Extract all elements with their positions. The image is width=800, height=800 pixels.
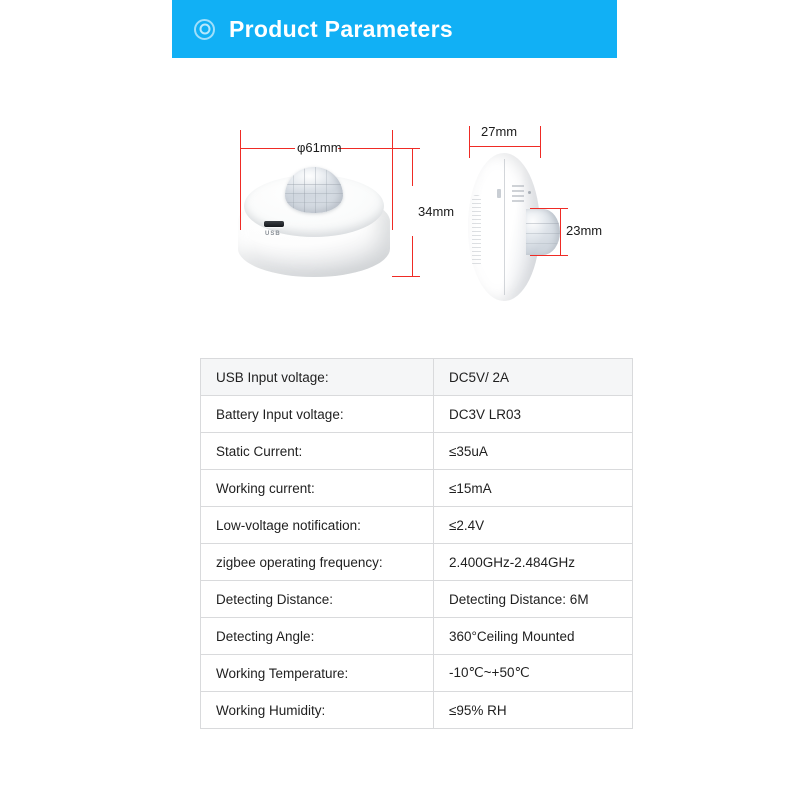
param-name: zigbee operating frequency: xyxy=(201,544,434,581)
param-name: Detecting Angle: xyxy=(201,618,434,655)
table-row: Working Humidity: ≤95% RH xyxy=(201,692,633,729)
param-name: Low-voltage notification: xyxy=(201,507,434,544)
param-name: Battery Input voltage: xyxy=(201,396,434,433)
product-parameters-header: Product Parameters xyxy=(172,0,617,58)
dim-label-dome-height: 23mm xyxy=(566,223,602,238)
dim-27mm-line xyxy=(469,146,541,147)
dim-61mm-left-tick xyxy=(240,130,241,230)
param-name: Static Current: xyxy=(201,433,434,470)
dim-label-height: 34mm xyxy=(418,204,454,219)
sensor-seam-line xyxy=(504,159,505,295)
dome-lens-icon xyxy=(285,167,343,213)
param-name: Working Humidity: xyxy=(201,692,434,729)
table-row: Battery Input voltage: DC3V LR03 xyxy=(201,396,633,433)
param-name: Detecting Distance: xyxy=(201,581,434,618)
param-value: ≤15mA xyxy=(434,470,633,507)
table-row: Low-voltage notification: ≤2.4V xyxy=(201,507,633,544)
pir-motion-sensor-side-view xyxy=(468,153,560,301)
param-value: DC3V LR03 xyxy=(434,396,633,433)
param-name: Working Temperature: xyxy=(201,655,434,692)
param-value: ≤35uA xyxy=(434,433,633,470)
dim-61mm-line-left xyxy=(240,148,295,149)
page-title: Product Parameters xyxy=(229,16,453,43)
sensor-ridge-texture xyxy=(472,195,481,267)
param-value: Detecting Distance: 6M xyxy=(434,581,633,618)
dim-label-diameter: φ61mm xyxy=(297,140,342,155)
dim-34mm-bottom-tick xyxy=(392,276,420,277)
param-name: USB Input voltage: xyxy=(201,359,434,396)
table-row: USB Input voltage: DC5V/ 2A xyxy=(201,359,633,396)
table-row: Detecting Distance: Detecting Distance: … xyxy=(201,581,633,618)
dim-23mm-top-tick xyxy=(530,208,568,209)
dim-34mm-line-bottom xyxy=(412,236,413,276)
table-row: Static Current: ≤35uA xyxy=(201,433,633,470)
dim-34mm-line-top xyxy=(412,148,413,186)
usb-port-label: USB xyxy=(265,231,281,237)
pir-motion-sensor-top-view: USB xyxy=(238,165,390,277)
sensor-slot xyxy=(497,189,501,198)
dim-61mm-line-right xyxy=(338,148,392,149)
dim-27mm-right-tick xyxy=(540,126,541,158)
dome-lens-side-icon xyxy=(526,209,560,255)
dim-23mm-line xyxy=(560,208,561,255)
dim-61mm-right-tick xyxy=(392,130,393,230)
param-name: Working current: xyxy=(201,470,434,507)
table-row: Working current: ≤15mA xyxy=(201,470,633,507)
sensor-indicator-dot xyxy=(528,191,531,194)
product-illustration: USB φ61mm 34mm 27mm 23mm xyxy=(0,58,800,348)
double-circle-icon xyxy=(194,19,215,40)
param-value: DC5V/ 2A xyxy=(434,359,633,396)
param-value: 2.400GHz-2.484GHz xyxy=(434,544,633,581)
dim-label-depth: 27mm xyxy=(481,124,517,139)
table-row: Detecting Angle: 360°Ceiling Mounted xyxy=(201,618,633,655)
param-value: ≤95% RH xyxy=(434,692,633,729)
dim-27mm-left-tick xyxy=(469,126,470,158)
table-body: USB Input voltage: DC5V/ 2A Battery Inpu… xyxy=(201,359,633,729)
param-value: -10℃~+50℃ xyxy=(434,655,633,692)
param-value: 360°Ceiling Mounted xyxy=(434,618,633,655)
usb-port xyxy=(264,221,284,227)
table-row: zigbee operating frequency: 2.400GHz-2.4… xyxy=(201,544,633,581)
dim-34mm-top-tick xyxy=(392,148,420,149)
product-parameters-table: USB Input voltage: DC5V/ 2A Battery Inpu… xyxy=(200,358,633,729)
param-value: ≤2.4V xyxy=(434,507,633,544)
sensor-vent-dots xyxy=(512,185,524,203)
dim-23mm-bottom-tick xyxy=(530,255,568,256)
table-row: Working Temperature: -10℃~+50℃ xyxy=(201,655,633,692)
